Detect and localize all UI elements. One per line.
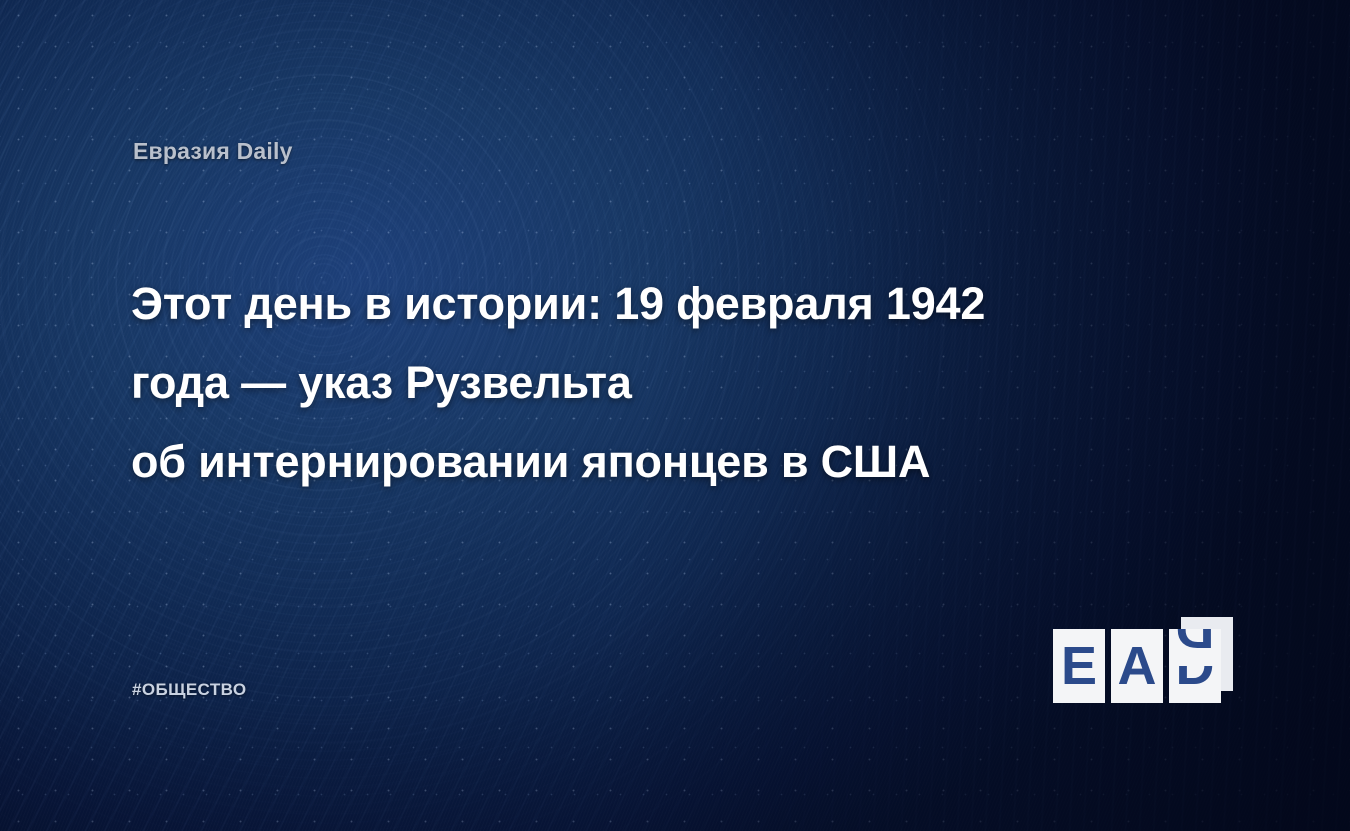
news-poster-card: Евразия Daily Этот день в истории: 19 фе… [0, 0, 1350, 831]
poster-content: Евразия Daily Этот день в истории: 19 фе… [0, 0, 1350, 831]
brand-wordmark[interactable]: Евразия Daily [133, 138, 293, 165]
headline-line-3: об интернировании японцев в США [131, 422, 1221, 501]
logo-letter-e: E [1053, 629, 1105, 703]
logo-letter-d-split: D D [1169, 629, 1221, 703]
logo-letter-d-lower-glyph: D [1169, 666, 1221, 703]
logo-letter-d-upper-glyph: D [1169, 629, 1221, 666]
logo-letter-a: A [1111, 629, 1163, 703]
category-hashtag[interactable]: #ОБЩЕСТВО [132, 680, 246, 700]
headline: Этот день в истории: 19 февраля 1942 год… [131, 264, 1221, 501]
headline-line-1: Этот день в истории: 19 февраля 1942 [131, 264, 1221, 343]
logo-letter-d-lower: D [1169, 666, 1221, 703]
headline-line-2: года — указ Рузвельта [131, 343, 1221, 422]
logo-letter-d-upper: D [1169, 629, 1221, 666]
eadaily-logo[interactable]: E A D D [1053, 629, 1221, 703]
